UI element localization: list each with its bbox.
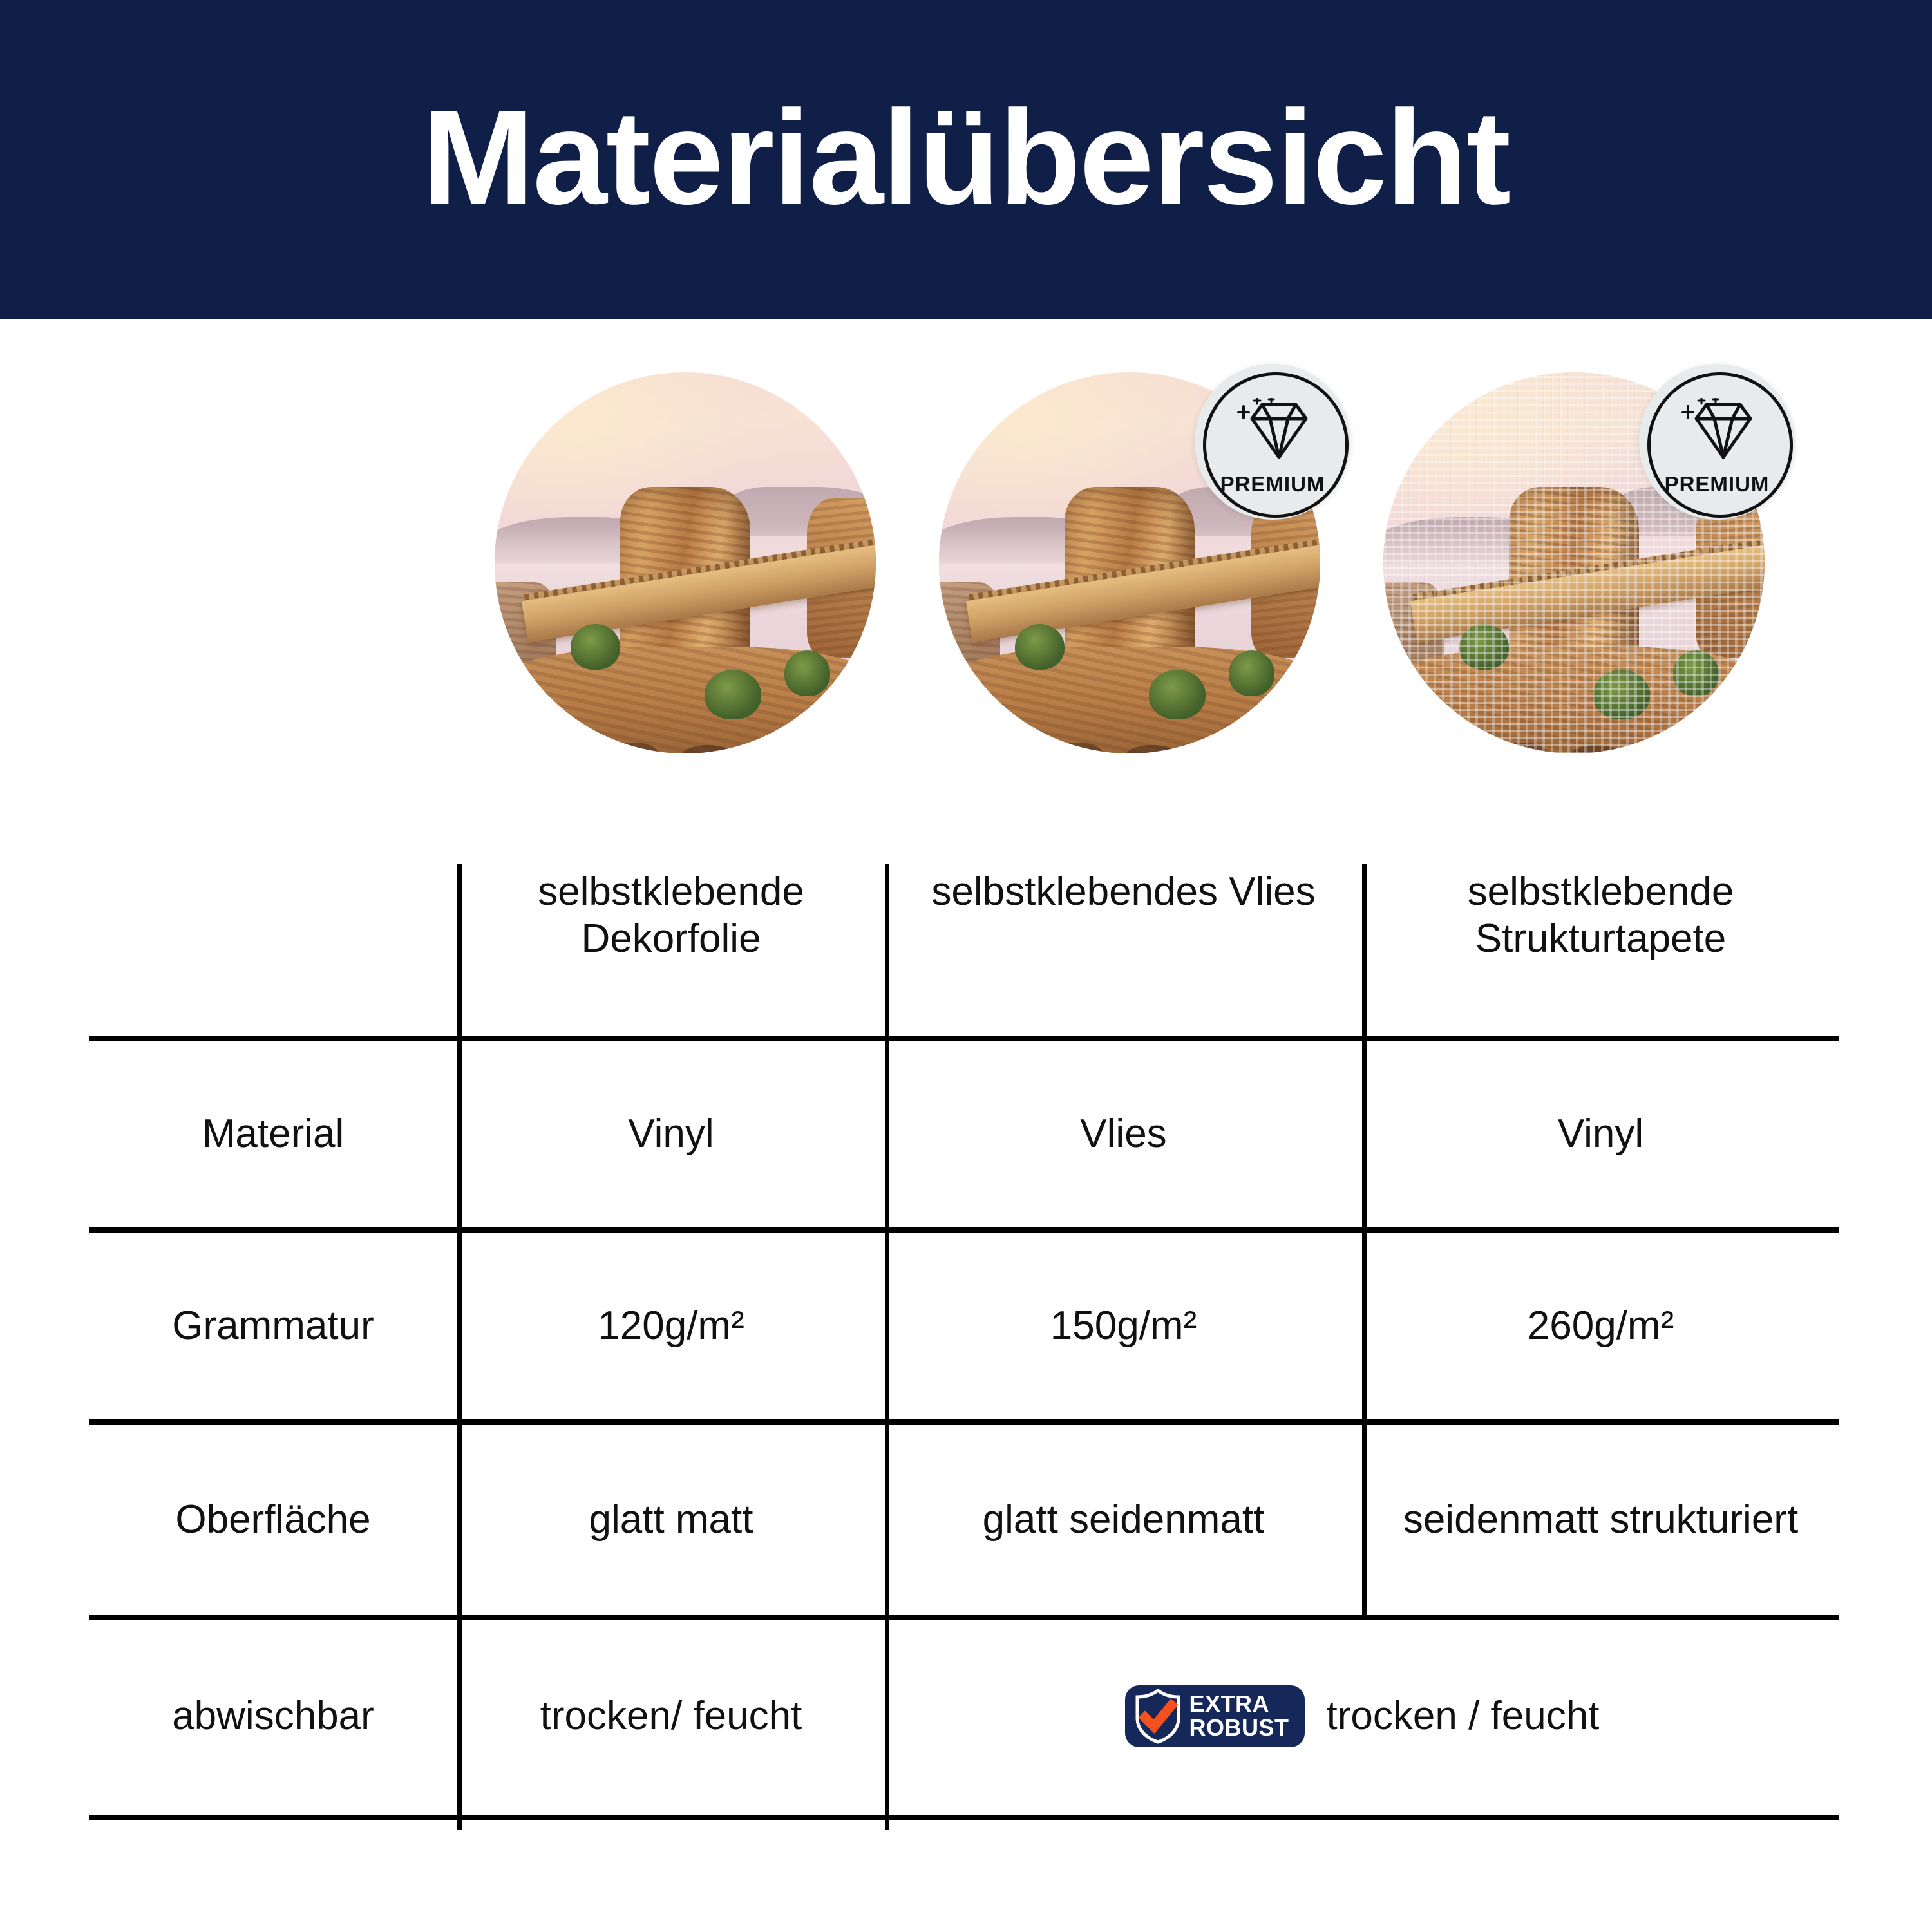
column-header-strukturtapete: selbstklebende Strukturtapete [1362,857,1839,1036]
cell-abwischbar-merged: EXTRA ROBUST trocken / feucht [885,1620,1839,1813]
tree [1149,670,1206,719]
row-label-grammatur: Grammatur [89,1233,457,1419]
cell-grammatur-dekorfolie: 120g/m² [457,1233,885,1419]
cell-abwischbar-value-merged: trocken / feucht [1327,1692,1600,1739]
row-divider [89,1419,1839,1425]
tree [1015,624,1065,670]
cell-material-dekorfolie: Vinyl [457,1041,885,1227]
tree [784,650,830,696]
premium-badge-label: PREMIUM [1220,472,1325,497]
extra-robust-label: EXTRA ROBUST [1189,1692,1289,1739]
bridge-arch [681,745,735,753]
product-preview-dekorfolie[interactable] [495,372,876,753]
table-row-oberflaeche: Oberfläche glatt matt glatt seidenmatt s… [89,1425,1839,1615]
column-header-dekorfolie: selbstklebende Dekorfolie [457,857,885,1036]
row-label-abwischbar: abwischbar [89,1620,457,1813]
tree [1229,650,1274,696]
diamond-icon [1678,398,1756,468]
table-bottom-border [89,1815,1839,1820]
tree [571,624,620,670]
cell-material-strukturtapete: Vinyl [1362,1041,1839,1227]
extra-robust-line1: EXTRA [1189,1692,1270,1716]
cell-abwischbar-dekorfolie: trocken/ feucht [457,1620,885,1813]
bridge-arch [1206,741,1271,753]
bastei-bridge-photo [495,372,876,753]
tree [705,670,762,719]
row-divider [89,1615,1839,1620]
row-label-material: Material [89,1041,457,1227]
cell-grammatur-vlies: 150g/m² [885,1233,1362,1419]
extra-robust-line2: ROBUST [1189,1716,1289,1740]
premium-badge-strukturtapete: PREMIUM [1639,364,1795,520]
shield-check-icon [1134,1689,1182,1744]
bridge-arch [1054,743,1103,753]
row-label-oberflaeche: Oberfläche [89,1425,457,1615]
table-corner-cell [89,857,457,1036]
table-row-material: Material Vinyl Vlies Vinyl [89,1041,1839,1227]
bridge-arch [540,745,594,753]
table-row-grammatur: Grammatur 120g/m² 150g/m² 260g/m² [89,1233,1839,1419]
material-comparison-table: selbstklebende Dekorfolie selbstklebende… [89,857,1839,1813]
cell-oberflaeche-vlies: glatt seidenmatt [885,1425,1362,1615]
bridge-arch [1126,745,1179,753]
column-header-vlies: selbstklebendes Vlies [885,857,1362,1036]
cell-oberflaeche-dekorfolie: glatt matt [457,1425,885,1615]
cell-oberflaeche-strukturtapete: seidenmatt strukturiert [1362,1425,1839,1615]
extra-robust-badge: EXTRA ROBUST [1125,1685,1305,1747]
cell-grammatur-strukturtapete: 260g/m² [1362,1233,1839,1419]
material-overview-page: Materialübersicht [0,0,1932,1932]
bridge-arch [985,745,1038,753]
bridge-arch [609,743,659,753]
table-header-row: selbstklebende Dekorfolie selbstklebende… [89,857,1839,1036]
premium-badge-vlies: PREMIUM [1195,364,1350,520]
row-divider [89,1036,1839,1041]
bridge-arch [761,741,826,753]
page-header: Materialübersicht [0,0,1932,319]
page-title: Materialübersicht [422,91,1510,225]
cell-material-vlies: Vlies [885,1041,1362,1227]
premium-badge-label: PREMIUM [1665,472,1770,497]
row-divider [89,1227,1839,1233]
product-image-dekorfolie [495,372,876,753]
table-row-abwischbar: abwischbar trocken/ feucht EXTRA ROBUST [89,1620,1839,1813]
diamond-icon [1234,398,1311,468]
